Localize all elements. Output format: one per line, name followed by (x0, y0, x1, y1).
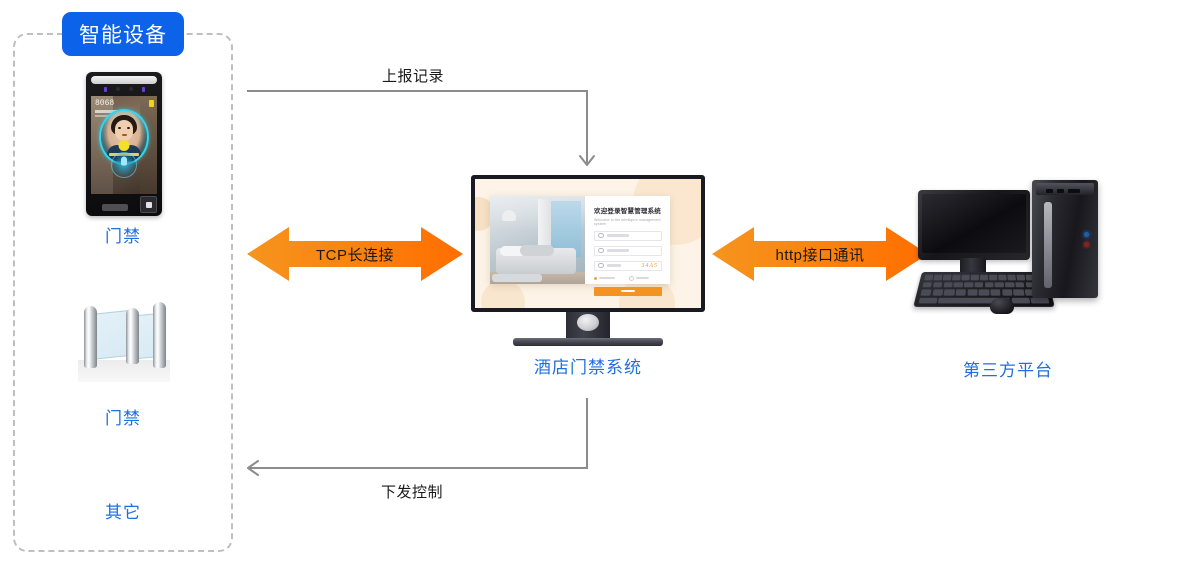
hotel-room-photo (490, 196, 585, 284)
terminal-sensor-row (86, 87, 162, 92)
keyboard-row (922, 282, 1045, 287)
bottom-flow-label: 下发控制 (381, 481, 443, 502)
tower-top-panel (1036, 183, 1094, 195)
photo-lamp (502, 210, 516, 221)
device-label-turnstile: 门禁 (13, 404, 233, 429)
remember-password-label (599, 277, 615, 279)
checkbox-icon (594, 277, 597, 280)
login-options (594, 276, 662, 281)
face-eye-left (118, 127, 121, 129)
camera-lens-icon (129, 87, 133, 91)
terminal-device-id: 8068 (95, 100, 114, 108)
device-label-face-terminal: 门禁 (13, 222, 233, 247)
monitor-screen: 欢迎登录智慧管理系统 Welcome to the intelligent ma… (475, 179, 701, 308)
camera-lens-icon (116, 87, 120, 91)
pc-monitor (918, 190, 1030, 260)
terminal-lower-panel (86, 194, 162, 216)
user-icon (598, 233, 604, 239)
shield-icon (598, 263, 604, 269)
scan-wave-icon (111, 152, 137, 178)
verify-badge-icon (119, 140, 130, 151)
login-title: 欢迎登录智慧管理系统 (594, 205, 662, 215)
keyboard-row (921, 289, 1048, 295)
pc-tower-icon (1032, 180, 1098, 298)
photo-rug (492, 274, 542, 282)
face-skin (115, 120, 133, 141)
password-field[interactable] (594, 246, 662, 256)
bottom-flow-line (250, 398, 587, 468)
third-party-platform-label: 第三方平台 (918, 356, 1098, 381)
http-interface-label: http接口通讯 (775, 244, 864, 265)
captcha-field[interactable]: 34A5 (594, 261, 662, 271)
bottom-flow-arrowhead-icon (248, 461, 258, 475)
username-field[interactable] (594, 231, 662, 241)
card-reader-icon (140, 196, 157, 213)
ir-sensor-icon (104, 87, 107, 92)
password-placeholder (607, 249, 629, 251)
top-flow-line (247, 91, 587, 163)
tower-vent (1046, 189, 1053, 193)
username-placeholder (607, 234, 629, 236)
checkbox-icon (629, 276, 634, 281)
monitor-neck (566, 312, 610, 340)
gate-glass-panel (92, 310, 128, 360)
decor-blob (481, 280, 525, 308)
smart-devices-group-badge: 智能设备 (62, 12, 184, 56)
terminal-light-bar (91, 76, 157, 84)
captcha-image[interactable]: 34A5 (641, 263, 658, 269)
photo-person (520, 245, 554, 256)
tower-vent (1068, 189, 1080, 193)
pc-mouse-icon (990, 298, 1014, 314)
center-system-label: 酒店门禁系统 (471, 353, 705, 378)
tower-led-icon (1084, 232, 1089, 237)
remember-password-checkbox[interactable] (594, 277, 615, 280)
terminal-body: 8068 (86, 72, 162, 216)
device-label-other: 其它 (13, 498, 233, 523)
forgot-password-label (636, 277, 649, 279)
login-subtitle: Welcome to the intelligent management sy… (594, 218, 662, 226)
forgot-password-link[interactable] (629, 276, 649, 281)
tower-vent (1057, 189, 1064, 193)
keyboard-row (924, 275, 1044, 280)
http-interface-arrow: http接口通讯 (712, 222, 928, 286)
brand-logo-icon (102, 204, 128, 211)
gate-pillar (153, 302, 166, 368)
monitor-bezel: 欢迎登录智慧管理系统 Welcome to the intelligent ma… (471, 175, 705, 312)
tower-led-icon (1084, 242, 1089, 247)
face-recognition-terminal-icon: 8068 (86, 72, 162, 216)
tcp-connection-arrow: TCP长连接 (247, 222, 463, 286)
terminal-tag-badge (149, 100, 154, 107)
top-flow-label: 上报记录 (382, 65, 444, 86)
turnstile-gate-icon (78, 300, 170, 382)
login-submit-label (621, 290, 635, 292)
keyboard-row (919, 297, 1050, 303)
ir-sensor-icon (142, 87, 145, 92)
gate-pillar (126, 308, 139, 364)
smart-devices-group-label: 智能设备 (79, 19, 167, 49)
login-card: 欢迎登录智慧管理系统 Welcome to the intelligent ma… (490, 196, 670, 284)
hotel-access-system-monitor: 欢迎登录智慧管理系统 Welcome to the intelligent ma… (471, 175, 705, 325)
monitor-base (513, 338, 663, 346)
tcp-connection-label: TCP长连接 (316, 244, 394, 265)
terminal-display: 8068 (91, 96, 157, 194)
captcha-placeholder (607, 264, 621, 266)
gate-pillar (84, 306, 97, 368)
keyboard-keys (919, 275, 1050, 304)
face-eye-right (127, 127, 130, 129)
login-submit-button[interactable] (594, 287, 662, 296)
face-mouth (122, 134, 127, 136)
login-form: 欢迎登录智慧管理系统 Welcome to the intelligent ma… (585, 196, 670, 284)
third-party-platform-icon: 第三方平台 (918, 180, 1098, 320)
lock-icon (598, 248, 604, 254)
tower-front-strip (1044, 202, 1052, 288)
top-flow-arrowhead-icon (580, 156, 594, 165)
person-glyph-icon (121, 157, 127, 166)
diagram-canvas: 智能设备 8068 (0, 0, 1196, 580)
